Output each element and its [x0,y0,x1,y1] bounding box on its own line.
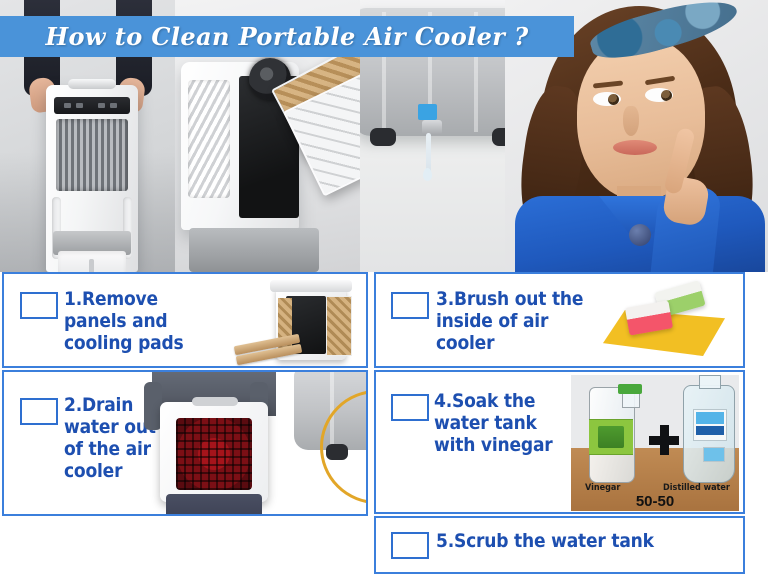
cooler-fan-grille [176,418,252,490]
iris [608,94,619,105]
cooler-base-tank [166,494,262,516]
checkbox-step-1[interactable] [20,292,58,319]
artwork-open-cooler-with-pads [234,278,360,366]
cooler-handle [68,79,116,89]
step-1-label: 1.Remove panels and cooling pads [64,288,224,354]
distilled-water-caption: Distilled water [663,483,730,493]
step-card-1[interactable]: 1.Remove panels and cooling pads [2,272,368,368]
step-4-label: 4.Soak the water tank with vinegar [434,390,574,456]
checkbox-step-4[interactable] [391,394,429,421]
page-title: How to Clean Portable Air Cooler ? [0,16,574,57]
cooler-side-grille [188,80,230,198]
cooler-front-grille [56,119,128,191]
step-3-label: 3.Brush out the inside of air cooler [436,288,611,354]
tower-air-cooler [46,85,138,272]
cooler-lower-tank [189,228,319,272]
panel-button [76,103,83,108]
steps-section: 1.Remove panels and cooling pads 2.Drain… [0,272,768,576]
vinegar-label [589,419,633,455]
step-card-5[interactable]: 5.Scrub the water tank [374,516,745,574]
step-5-label: 5.Scrub the water tank [436,530,696,552]
artwork-cooler-and-drain-plug [142,372,366,514]
water-stream [426,133,431,173]
checkbox-step-3[interactable] [391,292,429,319]
plus-icon [649,425,679,455]
cooler-control-panel [54,97,130,114]
steps-column-right: 3.Brush out the inside of air cooler 4.S… [374,272,745,574]
cooler-water-tank [58,251,126,272]
nose [623,106,639,136]
caster-wheel [370,128,396,146]
cooling-pad-right [326,296,352,356]
vinegar-caption: Vinegar [585,483,620,493]
iris [661,90,672,101]
bottle-cap [618,384,642,394]
panel-button [64,103,71,108]
jug-neck [699,375,721,389]
jug-label [693,409,727,441]
tank-blue-label [418,104,437,120]
jug-secondary-label [703,447,725,462]
steps-column-left: 1.Remove panels and cooling pads 2.Drain… [2,272,368,516]
artwork-vinegar-and-water: Vinegar Distilled water 50-50 [571,375,739,511]
panel-button [98,103,105,108]
necklace-pendant [629,224,651,246]
portable-air-cooler [160,402,268,502]
water-drop [423,168,432,181]
lips [613,140,657,155]
eye-right [645,88,673,102]
panel-button [110,103,117,108]
cooler-handle [192,397,238,406]
title-banner: How to Clean Portable Air Cooler ? [0,16,574,57]
artwork-sponges-on-cloth [595,280,735,362]
checkbox-step-2[interactable] [20,398,58,425]
ratio-caption: 50-50 [571,493,739,510]
checkbox-step-5[interactable] [391,532,429,559]
step-card-4[interactable]: 4.Soak the water tank with vinegar Vineg… [374,370,745,514]
face [577,38,705,200]
step-card-3[interactable]: 3.Brush out the inside of air cooler [374,272,745,368]
drain-plug [422,120,442,135]
step-card-2[interactable]: 2.Drain water out of the air cooler [2,370,368,516]
cooler-top-cover [270,280,352,292]
eye-left [593,92,621,106]
infographic-page: How to Clean Portable Air Cooler ? 1.Rem… [0,0,768,576]
